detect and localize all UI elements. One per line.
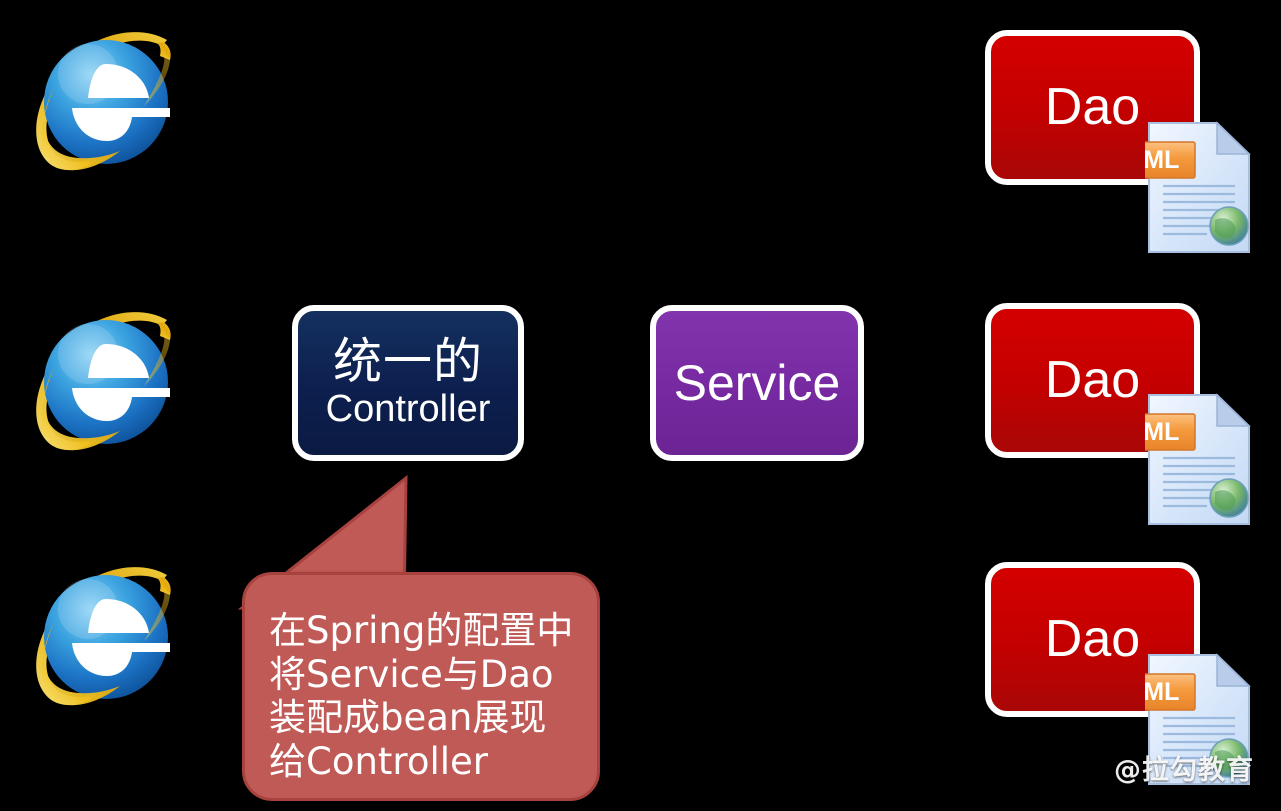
dao-label: Dao <box>1045 80 1140 135</box>
service-label: Service <box>674 357 841 410</box>
internet-explorer-icon <box>20 553 190 723</box>
controller-title-en: Controller <box>326 390 491 430</box>
dao-label: Dao <box>1045 353 1140 408</box>
watermark-label: @拉勾教育 <box>1114 748 1254 787</box>
xml-file-icon: XML <box>1145 392 1255 528</box>
controller-title-cn: 统一的 <box>333 336 483 387</box>
internet-explorer-icon <box>20 298 190 468</box>
dao-label: Dao <box>1045 612 1140 667</box>
service-box[interactable]: Service <box>650 305 864 461</box>
slide-canvas: 统一的 Controller Service Dao <box>0 0 1281 811</box>
svg-text:XML: XML <box>1145 146 1179 174</box>
callout-bubble[interactable]: 在Spring的配置中 将Service与Dao 装配成bean展现 给Cont… <box>242 572 600 801</box>
svg-text:XML: XML <box>1145 418 1179 446</box>
controller-box[interactable]: 统一的 Controller <box>292 305 524 461</box>
svg-text:XML: XML <box>1145 678 1179 706</box>
xml-file-icon: XML <box>1145 120 1255 256</box>
internet-explorer-icon <box>20 18 190 188</box>
callout-text: 在Spring的配置中 将Service与Dao 装配成bean展现 给Cont… <box>269 609 585 784</box>
